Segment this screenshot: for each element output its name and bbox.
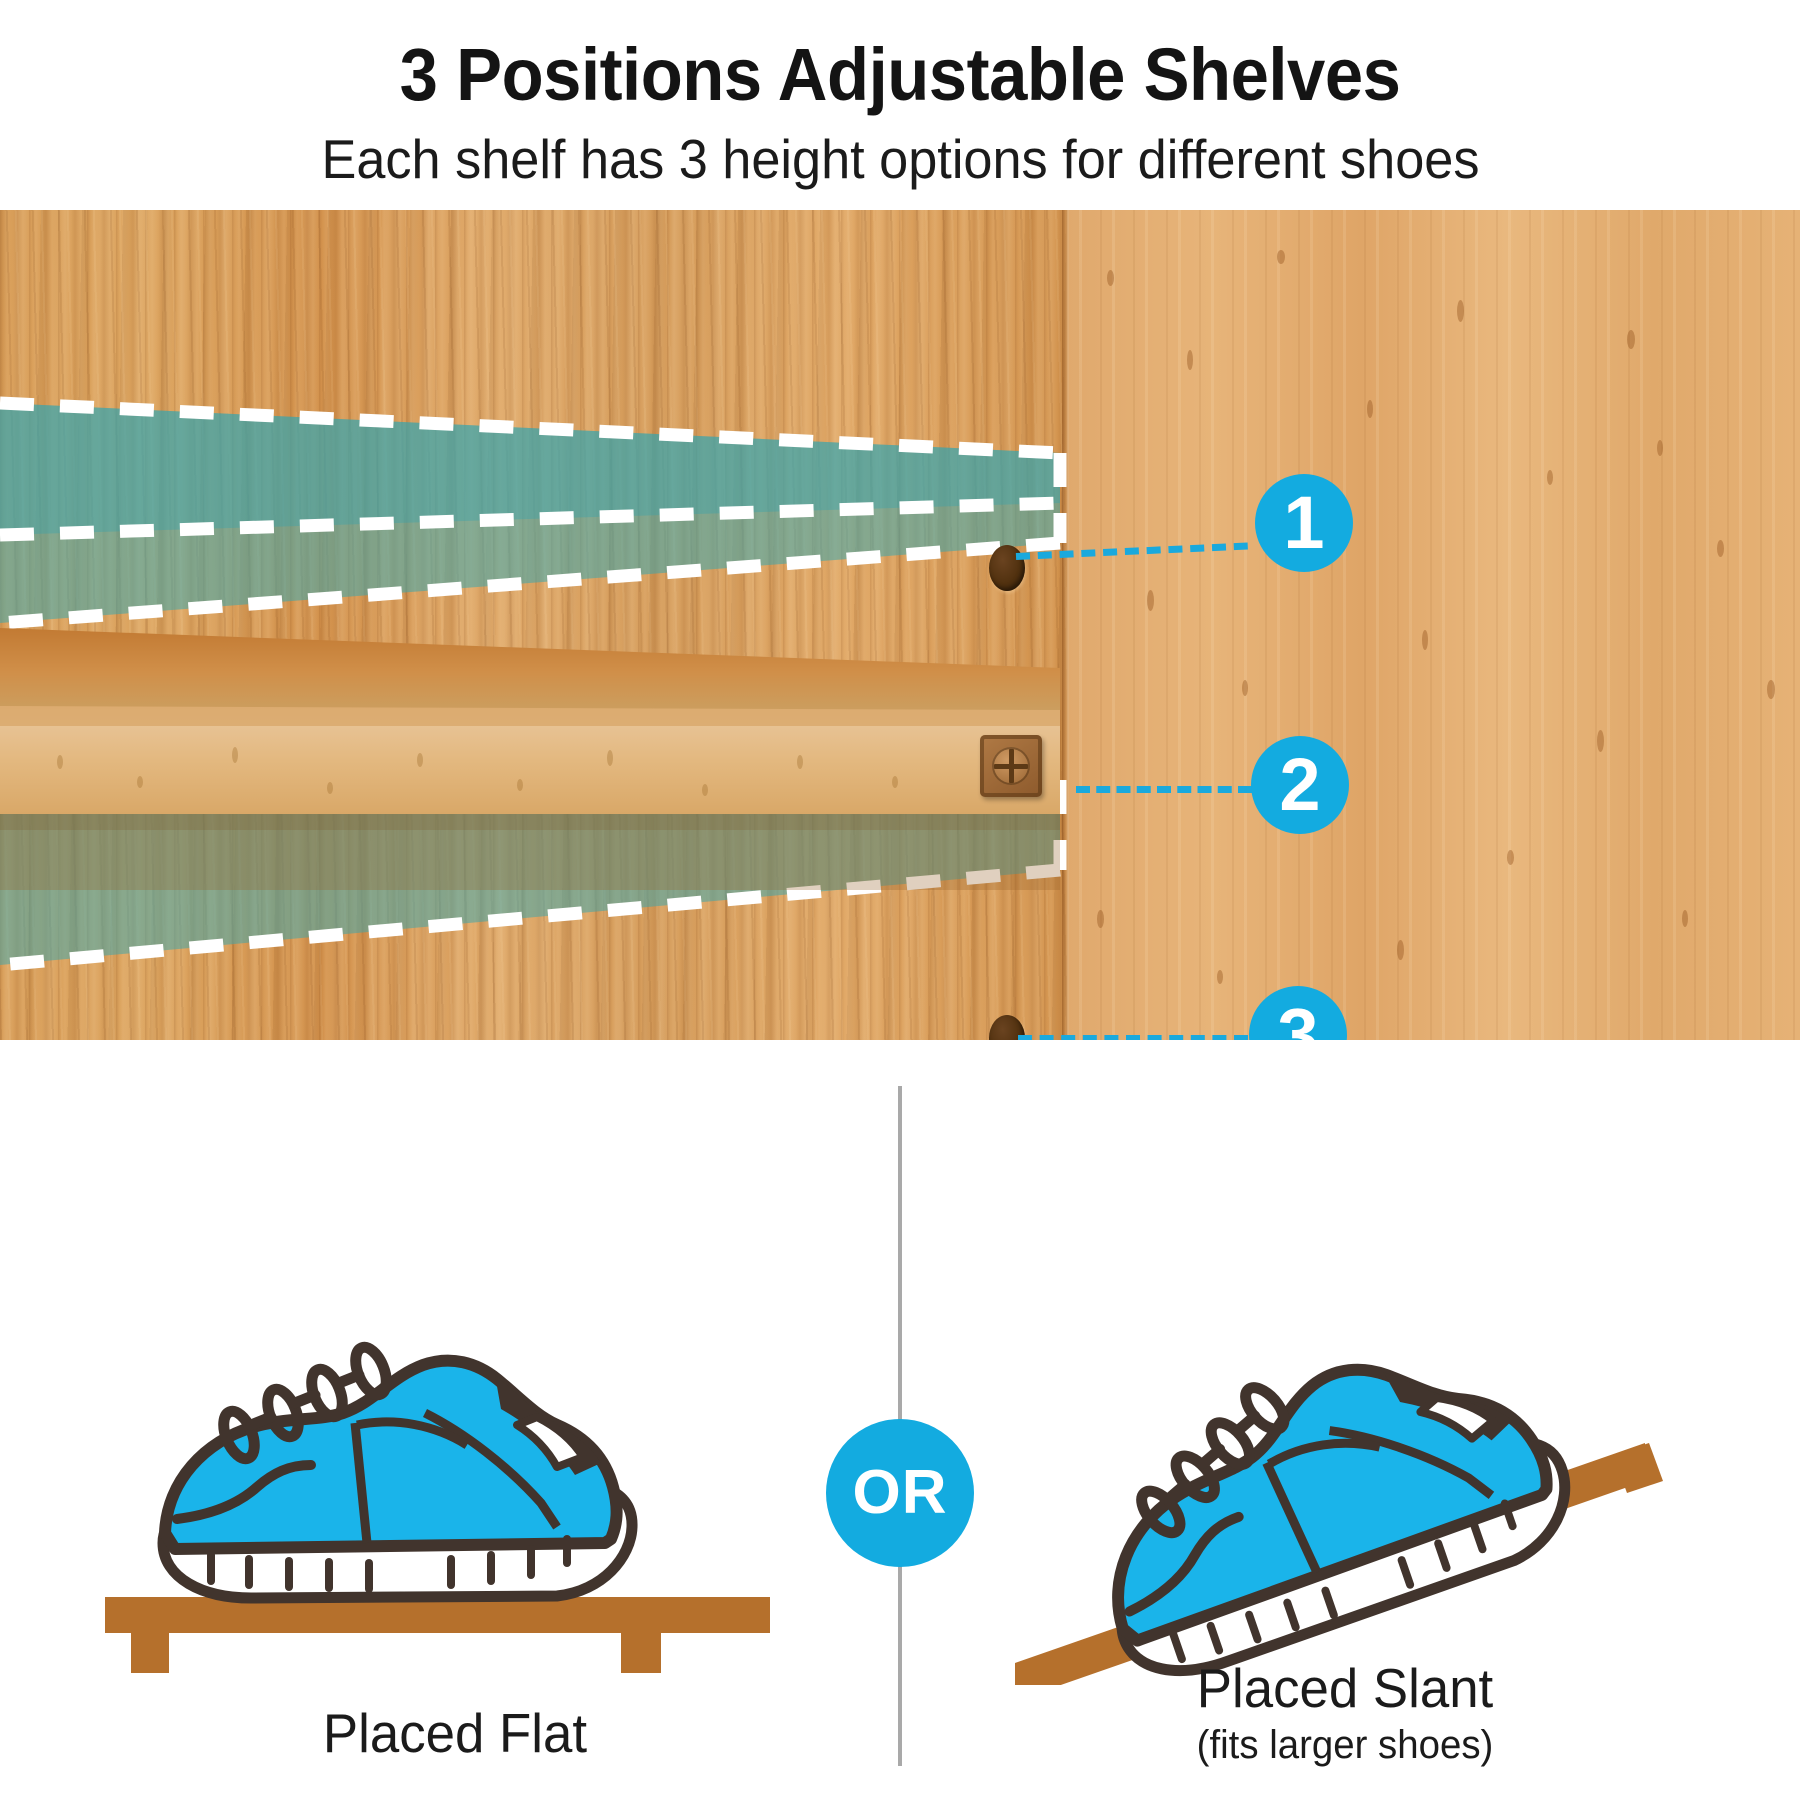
or-badge-label: OR (853, 1462, 948, 1524)
sneaker-slant (1059, 1297, 1586, 1685)
wood-fleck (1422, 630, 1428, 650)
wood-fleck (1147, 590, 1154, 611)
header: 3 Positions Adjustable Shelves Each shel… (0, 0, 1800, 210)
wood-fleck (1242, 680, 1248, 696)
callout-badge-3-label: 3 (1277, 998, 1318, 1040)
wood-fleck (1717, 540, 1724, 557)
leader-line-2 (1076, 786, 1252, 793)
sneaker-flat (163, 1343, 632, 1598)
wood-fleck (1682, 910, 1688, 927)
adjustable-shelf-photo: 1 2 3 (0, 210, 1800, 1040)
infographic-page: 3 Positions Adjustable Shelves Each shel… (0, 0, 1800, 1800)
wood-fleck (1397, 940, 1404, 960)
cabinet-side-panel (1067, 210, 1800, 1040)
wood-fleck (1097, 910, 1104, 928)
placed-flat-label: Placed Flat (119, 1705, 791, 1763)
installed-shelf (0, 210, 1070, 1040)
wood-fleck (1507, 850, 1514, 865)
callout-badge-2-label: 2 (1279, 748, 1320, 822)
wood-fleck (1627, 330, 1635, 349)
shoe-on-flat-shelf-illustration (105, 1305, 805, 1685)
wood-fleck (1217, 970, 1223, 984)
flat-shelf-bar (105, 1597, 770, 1673)
shoe-on-slanted-shelf-illustration (985, 1265, 1705, 1685)
callout-badge-2[interactable]: 2 (1251, 736, 1349, 834)
wood-fleck (1597, 730, 1604, 752)
placed-flat-caption: Placed Flat (105, 1705, 805, 1763)
or-badge: OR (826, 1419, 974, 1567)
screw-cross-slot (994, 764, 1028, 769)
wood-fleck (1767, 680, 1775, 699)
callout-badge-1[interactable]: 1 (1255, 474, 1353, 572)
placed-slant-sublabel: (fits larger shoes) (999, 1724, 1690, 1766)
cam-lock-fitting (980, 735, 1042, 797)
wood-fleck (1187, 350, 1193, 370)
page-subtitle: Each shelf has 3 height options for diff… (321, 132, 1479, 187)
wood-fleck (1547, 470, 1553, 485)
placed-slant-label: Placed Slant (999, 1660, 1690, 1718)
wood-fleck (1107, 270, 1114, 286)
placed-slant-caption: Placed Slant (fits larger shoes) (985, 1660, 1705, 1766)
wood-fleck (1657, 440, 1663, 456)
placement-options-panel: Placed Flat OR (0, 1040, 1800, 1800)
page-title: 3 Positions Adjustable Shelves (400, 38, 1401, 112)
wood-fleck (1457, 300, 1464, 322)
wood-fleck (1367, 400, 1373, 418)
callout-badge-1-label: 1 (1283, 486, 1324, 560)
wood-fleck (1277, 250, 1285, 264)
